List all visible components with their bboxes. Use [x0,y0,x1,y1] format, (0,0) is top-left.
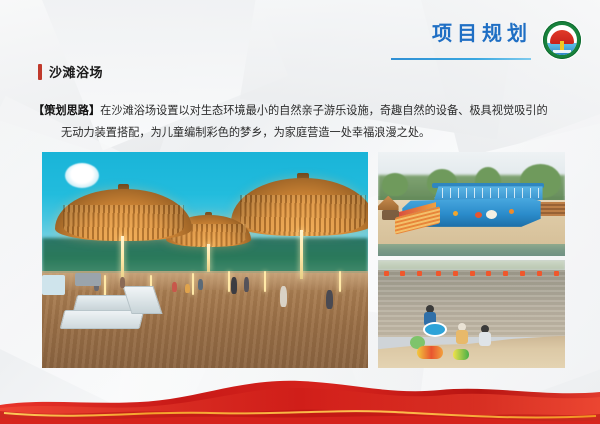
section-accent-bar [38,64,42,80]
person-figure [172,282,177,292]
person-figure [244,277,249,292]
photo-children-playing-sand [378,260,565,368]
footer-ribbon-decoration [0,378,600,424]
body-paragraph: 【策划思路】在沙滩浴场设置以对生态环境最小的自然亲子游乐设施，奇趣自然的设备、极… [33,100,567,144]
person-figure [185,284,190,293]
photo-beach-umbrellas-dusk [42,152,368,368]
inflatable-toy [417,346,443,359]
photo-blue-boat-playground [378,152,565,256]
paragraph-line-2: 无动力装置搭配，为儿童编制彩色的梦乡，为家庭营造一处幸福浪漫之处。 [33,122,567,144]
paragraph-line-1: 在沙滩浴场设置以对生态环境最小的自然亲子游乐设施，奇趣自然的设备、极具视觉吸引的 [100,105,548,117]
person-figure [120,277,125,288]
paragraph-lead-label: 【策划思路】 [33,105,100,117]
title-underline [391,58,531,60]
person-figure [231,277,237,294]
red-ribbon-icon [0,378,600,424]
organization-logo-icon [542,20,582,60]
sand-bucket-toy [453,349,469,360]
beach-kiosk [42,275,65,294]
person-figure [280,286,287,307]
slide-canvas: 项目规划 沙滩浴场 【策划思路】在沙滩浴场设置以对生态环境最小的自然亲子游乐设施… [0,0,600,424]
section-heading: 沙滩浴场 [38,62,103,81]
boat-railing [434,186,542,200]
background-facet [0,0,215,171]
header: 项目规划 [432,24,532,44]
thatched-umbrella-icon [231,178,368,277]
page-title: 项目规划 [432,24,532,44]
section-title: 沙滩浴场 [49,62,103,81]
parked-vehicle [75,273,101,286]
thatched-umbrella-icon [55,189,192,280]
swim-ring [423,322,447,337]
person-figure [326,290,333,309]
